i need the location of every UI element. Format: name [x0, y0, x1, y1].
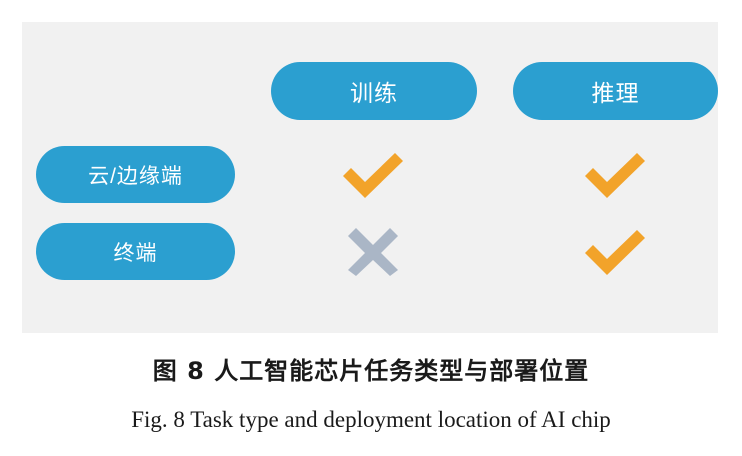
- column-header-training[interactable]: 训练: [271, 62, 477, 120]
- cell-cloud-edge-training: [328, 146, 418, 204]
- row-label-terminal-text: 终端: [114, 237, 158, 267]
- check-icon: [340, 152, 406, 198]
- figure-container: 训练 推理 云/边缘端 终端 图 8 人工智能芯片任务类型与部署位置 Fig. …: [0, 0, 742, 456]
- row-label-terminal[interactable]: 终端: [36, 223, 235, 280]
- row-label-cloud-edge-text: 云/边缘端: [88, 160, 183, 190]
- cell-terminal-inference: [570, 223, 660, 281]
- cell-cloud-edge-inference: [570, 146, 660, 204]
- check-icon: [582, 229, 648, 275]
- column-header-inference-label: 推理: [592, 74, 640, 108]
- figure-caption-chinese: 图 8 人工智能芯片任务类型与部署位置: [0, 354, 742, 388]
- row-label-cloud-edge[interactable]: 云/边缘端: [36, 146, 235, 203]
- figure-caption-english: Fig. 8 Task type and deployment location…: [0, 404, 742, 436]
- cross-icon: [347, 227, 399, 277]
- cell-terminal-training: [328, 223, 418, 281]
- column-header-inference[interactable]: 推理: [513, 62, 718, 120]
- column-header-training-label: 训练: [350, 74, 398, 108]
- check-icon: [582, 152, 648, 198]
